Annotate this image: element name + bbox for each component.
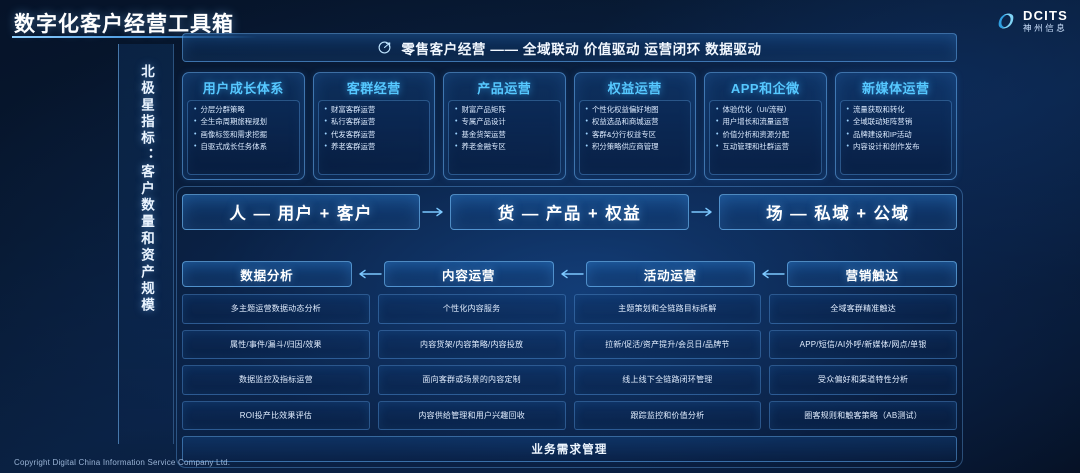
card-bullet-label: 财富客群运营 xyxy=(331,105,375,115)
card-bullet: •全生命周期旅程规划 xyxy=(194,117,296,127)
card-title: 客群经营 xyxy=(347,78,401,97)
card-title: 新媒体运营 xyxy=(862,78,930,97)
card-bullet: •全域联动矩阵营销 xyxy=(847,117,949,127)
card-bullet-label: 价值分析和资源分配 xyxy=(722,130,789,140)
arrow-right-icon xyxy=(420,206,450,218)
matrix-cell[interactable]: 内容货架/内容策略/内容投放 xyxy=(378,330,566,360)
logo-text-cn: 神州信息 xyxy=(1023,24,1068,33)
target-arrow-icon xyxy=(377,40,392,55)
bullet-dot-icon: • xyxy=(194,117,196,127)
logo-text-en: DCITS xyxy=(1023,9,1068,22)
card-bullet: •内容设计和创作发布 xyxy=(847,142,949,152)
capability-card[interactable]: 产品运营 •财富产品矩阵 •专属产品设计 •基金货架运营 •养老金融专区 xyxy=(443,72,566,180)
bullet-dot-icon: • xyxy=(325,130,327,140)
flow-item-people[interactable]: 人 — 用户 + 客户 xyxy=(182,194,420,230)
card-bullet: •分层分群策略 xyxy=(194,105,296,115)
bullet-dot-icon: • xyxy=(716,142,718,152)
bullet-dot-icon: • xyxy=(325,105,327,115)
capability-card[interactable]: APP和企微 •体验优化（UI/流程） •用户增长和流量运营 •价值分析和资源分… xyxy=(704,72,827,180)
matrix-cell[interactable]: 全域客群精准触达 xyxy=(769,294,957,324)
card-bullet-label: 个性化权益偏好地图 xyxy=(592,105,659,115)
card-bullet: •财富客群运营 xyxy=(325,105,427,115)
strategy-banner: 零售客户经营 —— 全域联动 价值驱动 运营闭环 数据驱动 xyxy=(182,33,957,62)
card-bullet: •用户增长和流量运营 xyxy=(716,117,818,127)
card-bullet: •专属产品设计 xyxy=(455,117,557,127)
card-bullet-label: 内容设计和创作发布 xyxy=(853,142,920,152)
head-marketing-reach[interactable]: 营销触达 xyxy=(787,261,957,287)
north-star-label: 北极星指标：客户数量和资产规模 xyxy=(136,64,156,315)
copyright-text: Copyright Digital China Information Serv… xyxy=(14,458,230,467)
matrix-cell[interactable]: 受众偏好和渠道特性分析 xyxy=(769,365,957,395)
card-bullet: •个性化权益偏好地图 xyxy=(586,105,688,115)
card-title: 用户成长体系 xyxy=(203,78,284,97)
bullet-dot-icon: • xyxy=(455,130,457,140)
capability-card[interactable]: 客群经营 •财富客群运营 •私行客群运营 •代发客群运营 •养老客群运营 xyxy=(313,72,436,180)
card-bullet-label: 客群&分行权益专区 xyxy=(592,130,656,140)
card-bullet: •私行客群运营 xyxy=(325,117,427,127)
matrix-cell[interactable]: 多主题运营数据动态分析 xyxy=(182,294,370,324)
card-bullet: •品牌建设和IP活动 xyxy=(847,130,949,140)
bullet-dot-icon: • xyxy=(847,105,849,115)
bullet-dot-icon: • xyxy=(455,142,457,152)
bullet-dot-icon: • xyxy=(716,130,718,140)
card-title: 产品运营 xyxy=(477,78,531,97)
matrix-cell[interactable]: 属性/事件/漏斗/归因/效果 xyxy=(182,330,370,360)
capability-cards: 用户成长体系 •分层分群策略 •全生命周期旅程规划 •画像标签和需求挖掘 •自驱… xyxy=(182,72,957,180)
arrow-right-icon xyxy=(689,206,719,218)
bullet-dot-icon: • xyxy=(847,142,849,152)
bullet-dot-icon: • xyxy=(194,105,196,115)
card-body: •流量获取和转化 •全域联动矩阵营销 •品牌建设和IP活动 •内容设计和创作发布 xyxy=(840,100,953,175)
matrix-cell[interactable]: 拉新/促活/资产提升/会员日/品牌节 xyxy=(574,330,762,360)
card-body: •财富客群运营 •私行客群运营 •代发客群运营 •养老客群运营 xyxy=(318,100,431,175)
card-body: •分层分群策略 •全生命周期旅程规划 •画像标签和需求挖掘 •自驱式成长任务体系 xyxy=(187,100,300,175)
bullet-dot-icon: • xyxy=(586,117,588,127)
card-bullet-label: 分层分群策略 xyxy=(200,105,244,115)
matrix-cell[interactable]: 主题策划和全链路目标拆解 xyxy=(574,294,762,324)
flow-item-goods[interactable]: 货 — 产品 + 权益 xyxy=(450,194,688,230)
matrix-cell[interactable]: 圈客规则和触客策略（AB测试） xyxy=(769,401,957,431)
capability-card[interactable]: 用户成长体系 •分层分群策略 •全生命周期旅程规划 •画像标签和需求挖掘 •自驱… xyxy=(182,72,305,180)
card-bullet: •基金货架运营 xyxy=(455,130,557,140)
head-content-operation[interactable]: 内容运营 xyxy=(384,261,554,287)
matrix-column-campaign-operation: 主题策划和全链路目标拆解 拉新/促活/资产提升/会员日/品牌节 线上线下全链路闭… xyxy=(574,294,762,430)
card-bullet-label: 品牌建设和IP活动 xyxy=(853,130,912,140)
card-bullet-label: 代发客群运营 xyxy=(331,130,375,140)
capability-card[interactable]: 新媒体运营 •流量获取和转化 •全域联动矩阵营销 •品牌建设和IP活动 •内容设… xyxy=(835,72,958,180)
flow-item-field[interactable]: 场 — 私域 + 公域 xyxy=(719,194,957,230)
matrix-column-marketing-reach: 全域客群精准触达 APP/短信/AI外呼/新媒体/网点/单银 受众偏好和渠道特性… xyxy=(769,294,957,430)
matrix-cell[interactable]: ROI投产比效果评估 xyxy=(182,401,370,431)
bullet-dot-icon: • xyxy=(586,142,588,152)
card-bullet: •互动管理和社群运营 xyxy=(716,142,818,152)
card-bullet-label: 用户增长和流量运营 xyxy=(722,117,789,127)
head-data-analysis[interactable]: 数据分析 xyxy=(182,261,352,287)
flow-row: 人 — 用户 + 客户 货 — 产品 + 权益 场 — 私域 + 公域 xyxy=(182,192,957,232)
matrix-column-data-analysis: 多主题运营数据动态分析 属性/事件/漏斗/归因/效果 数据监控及指标运营 ROI… xyxy=(182,294,370,430)
matrix-cell[interactable]: 跟踪监控和价值分析 xyxy=(574,401,762,431)
matrix-cell[interactable]: 个性化内容服务 xyxy=(378,294,566,324)
card-body: •个性化权益偏好地图 •权益选品和商城运营 •客群&分行权益专区 •积分策略供应… xyxy=(579,100,692,175)
arrow-left-icon xyxy=(755,268,787,280)
card-bullet: •客群&分行权益专区 xyxy=(586,130,688,140)
bullet-dot-icon: • xyxy=(716,117,718,127)
card-title: APP和企微 xyxy=(731,78,800,97)
brand-logo: DCITS 神州信息 xyxy=(995,9,1068,33)
bullet-dot-icon: • xyxy=(455,117,457,127)
slide-canvas: 数字化客户经营工具箱 DCITS 神州信息 北极星指标：客户数量和资产规模 零售… xyxy=(0,0,1080,473)
dcits-swirl-icon xyxy=(995,10,1017,32)
head-campaign-operation[interactable]: 活动运营 xyxy=(586,261,756,287)
card-bullet-label: 养老客群运营 xyxy=(331,142,375,152)
card-bullet: •养老金融专区 xyxy=(455,142,557,152)
bullet-dot-icon: • xyxy=(847,117,849,127)
banner-text: 零售客户经营 —— 全域联动 价值驱动 运营闭环 数据驱动 xyxy=(401,38,761,58)
card-title: 权益运营 xyxy=(608,78,662,97)
matrix-column-content-operation: 个性化内容服务 内容货架/内容策略/内容投放 面向客群或场景的内容定制 内容供给… xyxy=(378,294,566,430)
matrix-cell[interactable]: 面向客群或场景的内容定制 xyxy=(378,365,566,395)
card-bullet: •流量获取和转化 xyxy=(847,105,949,115)
card-bullet-label: 私行客群运营 xyxy=(331,117,375,127)
card-bullet-label: 基金货架运营 xyxy=(461,130,505,140)
card-bullet-label: 积分策略供应商管理 xyxy=(592,142,659,152)
matrix-cell[interactable]: APP/短信/AI外呼/新媒体/网点/单银 xyxy=(769,330,957,360)
arrow-left-icon xyxy=(352,268,384,280)
card-bullet-label: 全生命周期旅程规划 xyxy=(200,117,267,127)
card-bullet-label: 流量获取和转化 xyxy=(853,105,905,115)
card-bullet: •价值分析和资源分配 xyxy=(716,130,818,140)
card-bullet: •自驱式成长任务体系 xyxy=(194,142,296,152)
bullet-dot-icon: • xyxy=(325,117,327,127)
card-bullet-label: 专属产品设计 xyxy=(461,117,505,127)
card-bullet-label: 自驱式成长任务体系 xyxy=(200,142,267,152)
matrix-cell[interactable]: 内容供给管理和用户兴趣回收 xyxy=(378,401,566,431)
card-bullet: •体验优化（UI/流程） xyxy=(716,105,818,115)
card-bullet: •财富产品矩阵 xyxy=(455,105,557,115)
card-bullet-label: 画像标签和需求挖掘 xyxy=(200,130,267,140)
matrix-cell[interactable]: 数据监控及指标运营 xyxy=(182,365,370,395)
operation-matrix: 多主题运营数据动态分析 属性/事件/漏斗/归因/效果 数据监控及指标运营 ROI… xyxy=(182,294,957,430)
card-bullet-label: 养老金融专区 xyxy=(461,142,505,152)
card-body: •体验优化（UI/流程） •用户增长和流量运营 •价值分析和资源分配 •互动管理… xyxy=(709,100,822,175)
bullet-dot-icon: • xyxy=(716,105,718,115)
bullet-dot-icon: • xyxy=(455,105,457,115)
card-bullet: •养老客群运营 xyxy=(325,142,427,152)
card-bullet: •画像标签和需求挖掘 xyxy=(194,130,296,140)
card-bullet: •权益选品和商城运营 xyxy=(586,117,688,127)
card-bullet: •代发客群运营 xyxy=(325,130,427,140)
north-star-rail: 北极星指标：客户数量和资产规模 xyxy=(118,44,174,444)
bullet-dot-icon: • xyxy=(194,142,196,152)
matrix-cell[interactable]: 线上线下全链路闭环管理 xyxy=(574,365,762,395)
card-body: •财富产品矩阵 •专属产品设计 •基金货架运营 •养老金融专区 xyxy=(448,100,561,175)
bullet-dot-icon: • xyxy=(586,105,588,115)
arrow-left-icon xyxy=(554,268,586,280)
card-bullet-label: 互动管理和社群运营 xyxy=(722,142,789,152)
bullet-dot-icon: • xyxy=(847,130,849,140)
card-bullet-label: 财富产品矩阵 xyxy=(461,105,505,115)
card-bullet-label: 全域联动矩阵营销 xyxy=(853,117,912,127)
bullet-dot-icon: • xyxy=(194,130,196,140)
bullet-dot-icon: • xyxy=(325,142,327,152)
card-bullet-label: 权益选品和商城运营 xyxy=(592,117,659,127)
operation-heads-row: 数据分析 内容运营 活动运营 营销触达 xyxy=(182,260,957,288)
bullet-dot-icon: • xyxy=(586,130,588,140)
capability-card[interactable]: 权益运营 •个性化权益偏好地图 •权益选品和商城运营 •客群&分行权益专区 •积… xyxy=(574,72,697,180)
card-bullet-label: 体验优化（UI/流程） xyxy=(722,105,791,115)
business-requirement-bar[interactable]: 业务需求管理 xyxy=(182,436,957,462)
card-bullet: •积分策略供应商管理 xyxy=(586,142,688,152)
